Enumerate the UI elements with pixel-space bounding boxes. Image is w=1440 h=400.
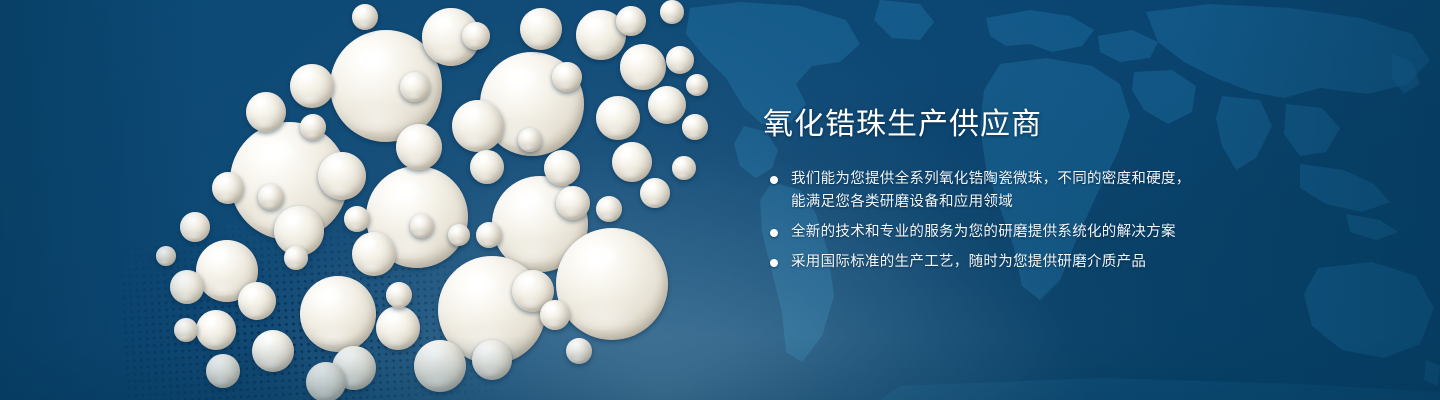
bullet-dot-icon bbox=[770, 259, 778, 267]
page-title: 氧化锆珠生产供应商 bbox=[763, 106, 1283, 144]
hero-banner: 氧化锆珠生产供应商 我们能为您提供全系列氧化锆陶瓷微珠，不同的密度和硬度， 能满… bbox=[0, 0, 1440, 400]
list-item-line: 能满足您各类研磨设备和应用领域 bbox=[791, 191, 1283, 214]
list-item-line: 采用国际标准的生产工艺，随时为您提供研磨介质产品 bbox=[791, 251, 1283, 274]
bullet-dot-icon bbox=[770, 176, 778, 184]
list-item: 我们能为您提供全系列氧化锆陶瓷微珠，不同的密度和硬度， 能满足您各类研磨设备和应… bbox=[763, 168, 1283, 214]
list-item-line: 我们能为您提供全系列氧化锆陶瓷微珠，不同的密度和硬度， bbox=[791, 168, 1283, 191]
list-item: 全新的技术和专业的服务为您的研磨提供系统化的解决方案 bbox=[763, 221, 1283, 244]
banner-copy: 氧化锆珠生产供应商 我们能为您提供全系列氧化锆陶瓷微珠，不同的密度和硬度， 能满… bbox=[763, 106, 1283, 274]
bullet-dot-icon bbox=[770, 229, 778, 237]
list-item-line: 全新的技术和专业的服务为您的研磨提供系统化的解决方案 bbox=[791, 221, 1283, 244]
feature-list: 我们能为您提供全系列氧化锆陶瓷微珠，不同的密度和硬度， 能满足您各类研磨设备和应… bbox=[763, 168, 1283, 274]
list-item: 采用国际标准的生产工艺，随时为您提供研磨介质产品 bbox=[763, 251, 1283, 274]
